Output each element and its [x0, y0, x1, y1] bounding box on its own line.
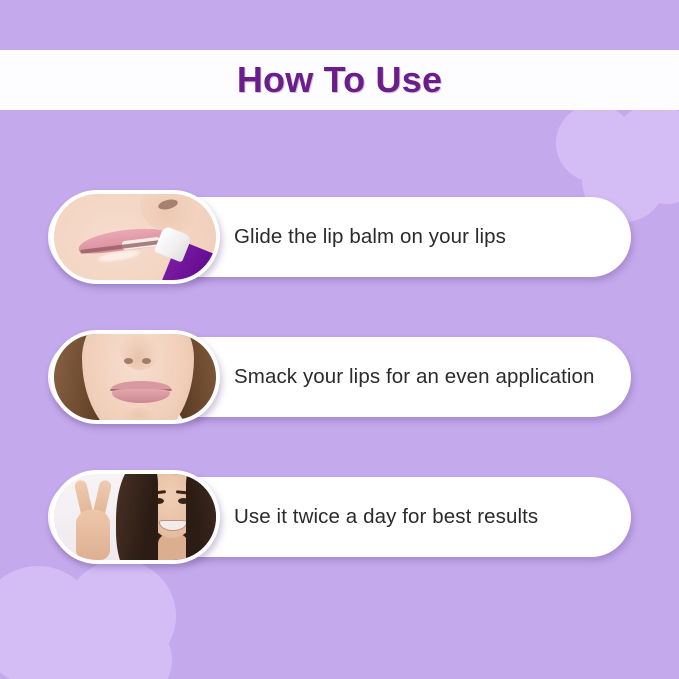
step-row: Use it twice a day for best results [48, 477, 631, 557]
header-band: How To Use [0, 50, 679, 110]
woman-lower-face-smacking-lips-photo [54, 334, 216, 420]
step-label: Glide the lip balm on your lips [234, 197, 506, 277]
smiling-woman-peace-sign-photo [54, 474, 216, 560]
step-label: Use it twice a day for best results [234, 477, 538, 557]
step-thumbnail [50, 470, 220, 564]
step-thumbnail [50, 190, 220, 284]
clover-shape-bottom-left-icon [0, 560, 208, 679]
step-row: Smack your lips for an even application [48, 337, 631, 417]
step-thumbnail [50, 330, 220, 424]
lips-with-balm-stick-photo [54, 194, 216, 280]
page-title: How To Use [237, 59, 442, 101]
step-row: Glide the lip balm on your lips [48, 197, 631, 277]
how-to-use-infographic: How To Use Glide the lip balm on your li… [0, 0, 679, 679]
step-label: Smack your lips for an even application [234, 337, 595, 417]
